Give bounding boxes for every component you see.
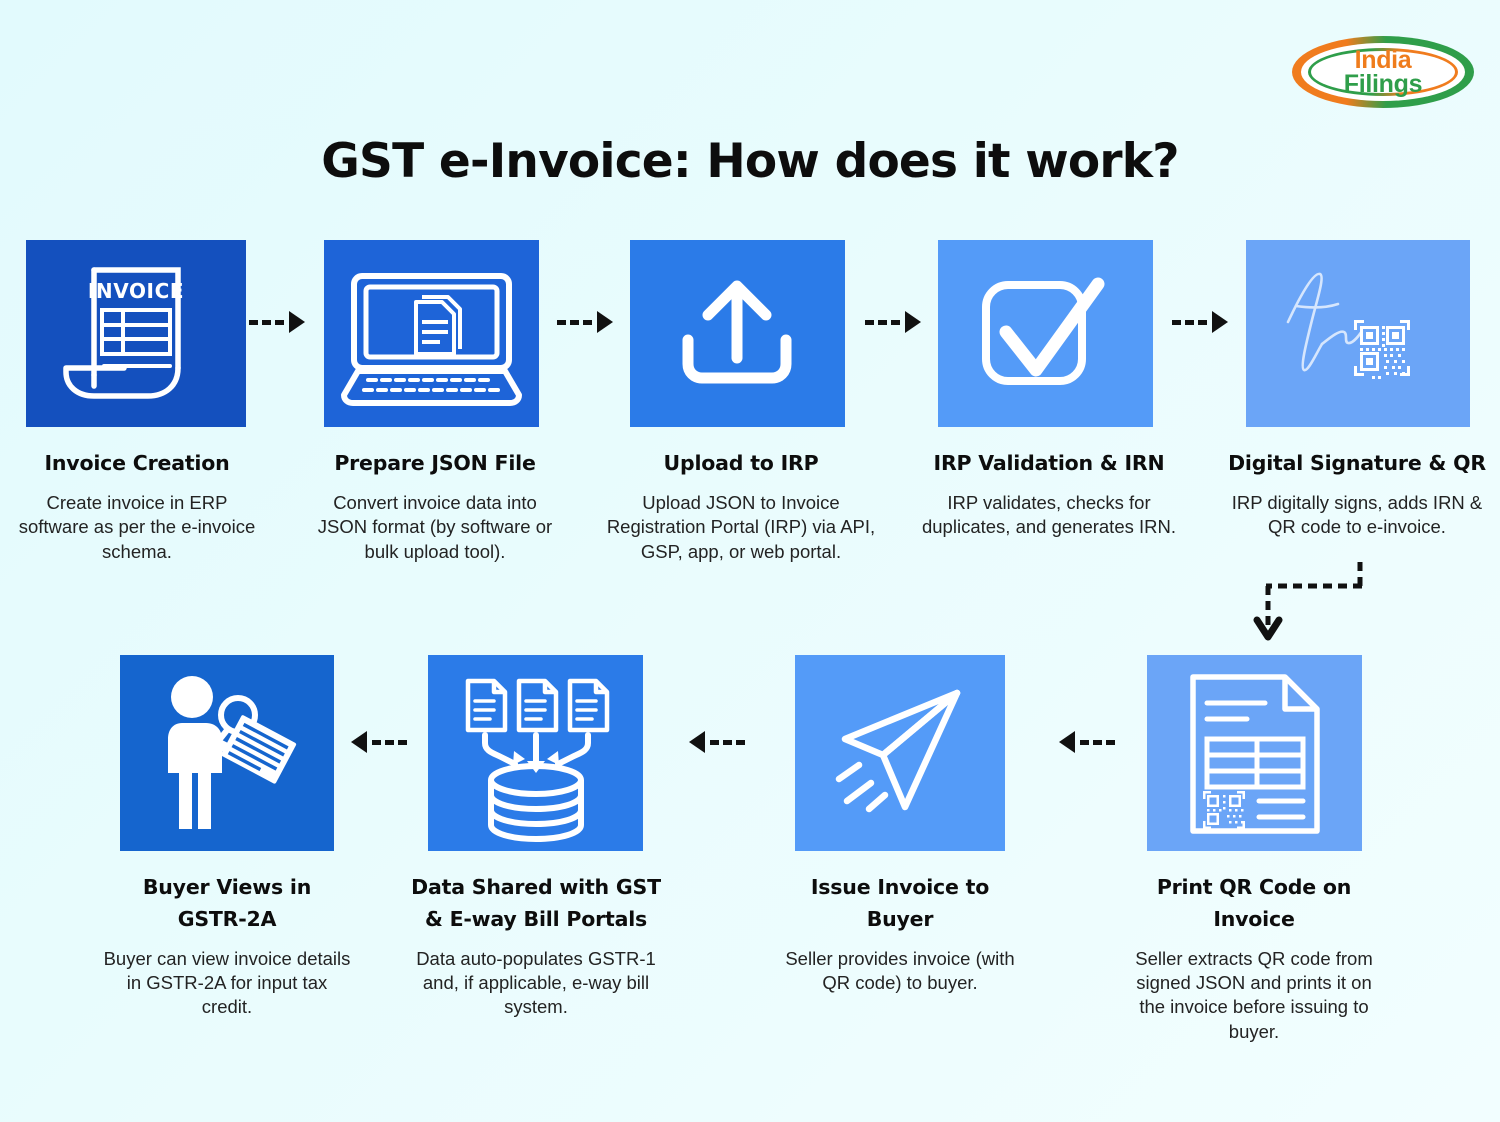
elbow-connector-arrow	[1250, 558, 1380, 648]
step-6-title-line2: GSTR-2A	[103, 904, 351, 936]
arrow-head-right-icon	[1212, 311, 1228, 333]
step-7-desc: Data auto-populates GSTR-1 and, if appli…	[396, 947, 676, 1020]
arrow-dash	[398, 740, 407, 745]
upload-icon	[630, 240, 845, 427]
step-card-issue-invoice: Issue Invoice to Buyer Seller provides i…	[795, 655, 1026, 995]
signature-qr-icon	[1246, 240, 1470, 427]
invoice-qr-document-icon	[1147, 655, 1362, 851]
step-2-desc: Convert invoice data into JSON format (b…	[309, 491, 561, 564]
step-3-tile	[630, 240, 845, 427]
step-4-tile	[938, 240, 1153, 427]
arrow-dash	[570, 320, 579, 325]
step-8-title-line1: Issue Invoice to	[774, 872, 1026, 904]
step-6-title: Buyer Views in GSTR-2A	[103, 872, 351, 936]
arrow-head-right-icon	[289, 311, 305, 333]
laptop-json-file-icon	[324, 240, 539, 427]
step-3-desc: Upload JSON to Invoice Registration Port…	[596, 491, 886, 564]
step-4-desc: IRP validates, checks for duplicates, an…	[904, 491, 1194, 540]
step-8-tile	[795, 655, 1005, 851]
step-9-title-line2: Invoice	[1124, 904, 1384, 936]
person-magnifier-icon	[120, 655, 334, 851]
step-5-body: Digital Signature & QR IRP digitally sig…	[1225, 448, 1489, 540]
arrow-head-left-icon	[351, 731, 367, 753]
step-card-digital-signature-qr: Digital Signature & QR IRP digitally sig…	[1246, 240, 1489, 540]
checkbox-tick-icon	[938, 240, 1153, 427]
arrow-dash	[385, 740, 394, 745]
flow-arrow-5-left	[351, 727, 411, 757]
step-card-invoice-creation: INVOICE Invoice Creation Create invoice …	[26, 240, 263, 564]
flow-arrow-4-right	[1172, 307, 1228, 337]
arrow-head-right-icon	[905, 311, 921, 333]
step-7-title-line2: & E-way Bill Portals	[396, 904, 676, 936]
step-1-title: Invoice Creation	[11, 448, 263, 480]
step-2-body: Prepare JSON File Convert invoice data i…	[309, 448, 561, 564]
step-6-title-line1: Buyer Views in	[103, 872, 351, 904]
step-4-body: IRP Validation & IRN IRP validates, chec…	[904, 448, 1194, 540]
step-9-tile	[1147, 655, 1362, 851]
step-8-body: Issue Invoice to Buyer Seller provides i…	[774, 872, 1026, 995]
step-card-prepare-json: Prepare JSON File Convert invoice data i…	[324, 240, 561, 564]
step-card-buyer-views-gstr2a: Buyer Views in GSTR-2A Buyer can view in…	[120, 655, 351, 1020]
step-9-body: Print QR Code on Invoice Seller extracts…	[1124, 872, 1384, 1044]
step-9-title: Print QR Code on Invoice	[1124, 872, 1384, 936]
step-card-upload-to-irp: Upload to IRP Upload JSON to Invoice Reg…	[630, 240, 886, 564]
step-4-title: IRP Validation & IRN	[904, 448, 1194, 480]
step-8-title-line2: Buyer	[774, 904, 1026, 936]
arrow-dash	[1185, 320, 1194, 325]
step-5-title: Digital Signature & QR	[1225, 448, 1489, 480]
infographic-canvas: India Filings GST e-Invoice: How does it…	[0, 0, 1500, 1122]
arrow-dash	[1106, 740, 1115, 745]
step-7-tile	[428, 655, 643, 851]
logo-text-filings: Filings	[1344, 72, 1422, 97]
flow-arrow-3-right	[865, 307, 921, 337]
step-8-title: Issue Invoice to Buyer	[774, 872, 1026, 936]
step-7-title-line1: Data Shared with GST	[396, 872, 676, 904]
step-1-body: Invoice Creation Create invoice in ERP s…	[11, 448, 263, 564]
arrow-dash	[1080, 740, 1089, 745]
arrow-dash	[1172, 320, 1181, 325]
step-6-body: Buyer Views in GSTR-2A Buyer can view in…	[103, 872, 351, 1020]
arrow-dash	[249, 320, 258, 325]
arrow-head-right-icon	[597, 311, 613, 333]
step-3-body: Upload to IRP Upload JSON to Invoice Reg…	[596, 448, 886, 564]
arrow-dash	[891, 320, 900, 325]
step-8-desc: Seller provides invoice (with QR code) t…	[774, 947, 1026, 996]
arrow-dash	[723, 740, 732, 745]
paper-plane-icon	[795, 655, 1005, 851]
step-1-tile: INVOICE	[26, 240, 246, 427]
flow-arrow-6-left	[689, 727, 749, 757]
step-5-tile	[1246, 240, 1470, 427]
page-title: GST e-Invoice: How does it work?	[0, 134, 1500, 189]
arrow-dash	[557, 320, 566, 325]
step-6-desc: Buyer can view invoice details in GSTR-2…	[103, 947, 351, 1020]
india-filings-logo: India Filings	[1292, 36, 1474, 108]
step-2-title: Prepare JSON File	[309, 448, 561, 480]
logo-text-india: India	[1355, 48, 1412, 73]
step-card-print-qr-code: Print QR Code on Invoice Seller extracts…	[1147, 655, 1384, 1044]
arrow-dash	[262, 320, 271, 325]
documents-to-database-icon	[428, 655, 643, 851]
arrow-head-left-icon	[1059, 731, 1075, 753]
arrow-dash	[736, 740, 745, 745]
step-7-title: Data Shared with GST & E-way Bill Portal…	[396, 872, 676, 936]
flow-arrow-1-right	[249, 307, 305, 337]
flow-arrow-2-right	[557, 307, 613, 337]
flow-arrow-7-left	[1059, 727, 1119, 757]
step-1-desc: Create invoice in ERP software as per th…	[11, 491, 263, 564]
arrow-dash	[878, 320, 887, 325]
logo-wordmark: India Filings	[1292, 36, 1474, 108]
arrow-dash	[275, 320, 284, 325]
step-card-data-shared-gst: Data Shared with GST & E-way Bill Portal…	[428, 655, 676, 1020]
invoice-document-icon: INVOICE	[26, 240, 246, 427]
arrow-dash	[710, 740, 719, 745]
step-9-title-line1: Print QR Code on	[1124, 872, 1384, 904]
step-card-irp-validation: IRP Validation & IRN IRP validates, chec…	[938, 240, 1194, 540]
arrow-dash	[1198, 320, 1207, 325]
step-3-title: Upload to IRP	[596, 448, 886, 480]
step-5-desc: IRP digitally signs, adds IRN & QR code …	[1225, 491, 1489, 540]
arrow-head-left-icon	[689, 731, 705, 753]
step-9-desc: Seller extracts QR code from signed JSON…	[1124, 947, 1384, 1045]
step-7-body: Data Shared with GST & E-way Bill Portal…	[396, 872, 676, 1020]
arrow-dash	[1093, 740, 1102, 745]
arrow-dash	[372, 740, 381, 745]
arrow-dash	[583, 320, 592, 325]
step-6-tile	[120, 655, 334, 851]
arrow-dash	[865, 320, 874, 325]
invoice-label: INVOICE	[88, 279, 184, 303]
step-2-tile	[324, 240, 539, 427]
